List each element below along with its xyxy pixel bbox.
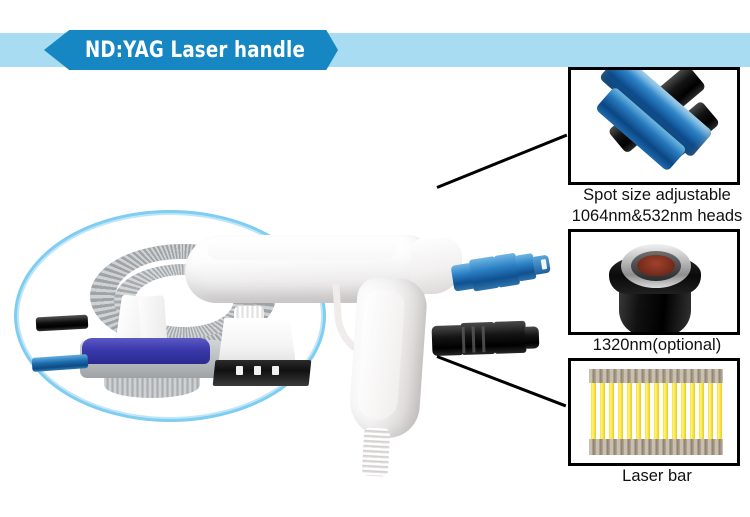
black-head-segment [432,325,463,356]
page-title: ND:YAG Laser handle [71,30,319,70]
laser-rod [645,379,650,443]
leader-line-top [436,134,567,189]
thumbnail-1320nm-head[interactable] [568,229,740,335]
product-photo-stage: You could choose any one of them. [0,70,570,517]
laser-rod [654,379,659,443]
laser-rod [663,379,668,443]
laser-rod [672,379,677,443]
thumbnail-caption-spot-size-line2: 1064nm&532nm heads [568,206,746,227]
laser-bar-array [589,369,723,455]
handpiece-cable [362,427,390,476]
laser-rod [636,379,641,443]
red-lens-icon [637,255,675,276]
thumbnail-spot-size-heads[interactable] [568,67,740,185]
black-head-segment [493,321,526,354]
small-black-head-photo [36,315,89,332]
thumbnail-caption-1320nm: 1320nm(optional) [568,335,746,356]
black-head-tip [525,326,540,348]
laser-bar-top-clamp [589,369,723,383]
laser-rod [618,379,623,443]
thumbnail-laser-bar[interactable] [568,358,740,466]
laser-rod [699,379,704,443]
leader-line-bottom [436,355,566,407]
header-banner: ND:YAG Laser handle [0,30,750,70]
laser-rod [717,379,722,443]
black-laser-head-photo [431,320,550,358]
laser-rod [690,379,695,443]
laser-rod [600,379,605,443]
nd-yag-handpiece-photo [185,170,455,470]
poster-root: ND:YAG Laser handle [0,0,750,517]
laser-rod [627,379,632,443]
blue-laser-head-photo [450,247,554,294]
laser-rod [708,379,713,443]
black-head-segment [460,322,495,355]
handpiece-body-highlight [207,238,397,260]
thumbnail-column: Spot size adjustable 1064nm&532nm heads … [568,67,746,517]
thumbnail-caption-laser-bar: Laser bar [568,466,746,487]
laser-rod [609,379,614,443]
laser-rod [681,379,686,443]
laser-rod [591,379,596,443]
laser-bar-bottom-clamp [589,439,723,455]
thumbnail-caption-spot-size-line1: Spot size adjustable [568,185,746,206]
